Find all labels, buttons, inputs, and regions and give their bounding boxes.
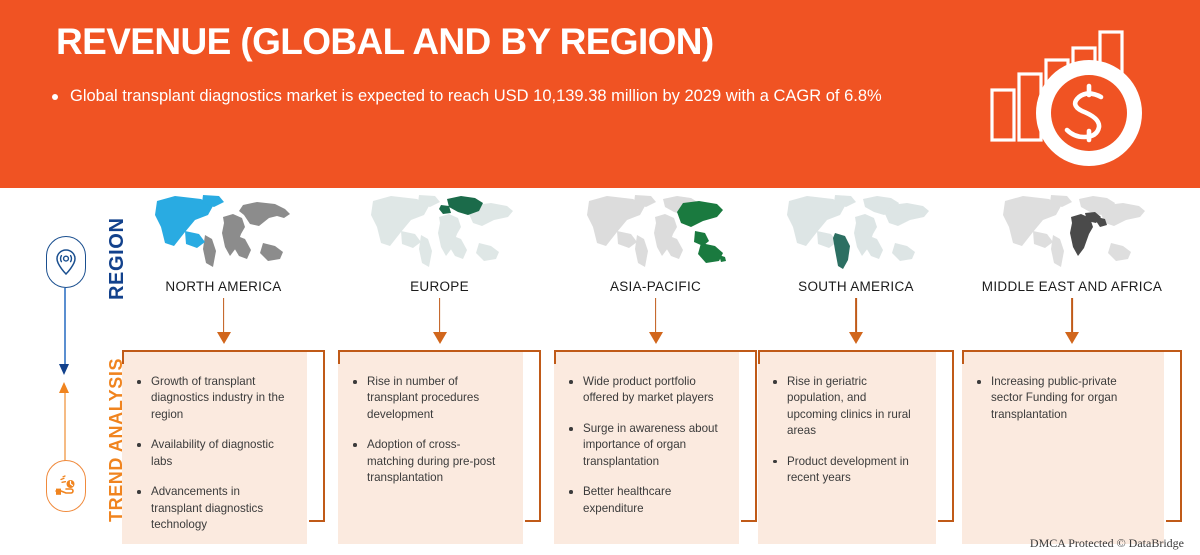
list-item: Advancements in transplant diagnostics t… bbox=[136, 484, 289, 533]
header-banner: REVENUE (GLOBAL AND BY REGION) Global tr… bbox=[0, 0, 1200, 188]
region-columns: NORTH AMERICA Growth of transplant diagn… bbox=[0, 188, 1200, 555]
page-title: REVENUE (GLOBAL AND BY REGION) bbox=[56, 22, 714, 63]
list-item: Availability of diagnostic labs bbox=[136, 437, 289, 470]
trend-card-middle-east-africa: Increasing public-private sector Funding… bbox=[962, 346, 1182, 544]
list-item: Rise in number of transplant procedures … bbox=[352, 374, 505, 423]
card-border-bottom bbox=[938, 520, 954, 522]
card-border-bottom bbox=[309, 520, 325, 522]
connector-arrow-asia-pacific bbox=[554, 294, 757, 346]
card-border-right bbox=[952, 350, 954, 522]
region-column-north-america: NORTH AMERICA Growth of transplant diagn… bbox=[122, 188, 325, 544]
list-item: Increasing public-private sector Funding… bbox=[976, 374, 1146, 423]
card-border-top bbox=[758, 350, 954, 352]
connector-arrow-south-america bbox=[758, 294, 954, 346]
trend-card-south-america: Rise in geriatric population, and upcomi… bbox=[758, 346, 954, 544]
region-label: SOUTH AMERICA bbox=[758, 279, 954, 294]
card-border-top bbox=[338, 350, 541, 352]
list-item: Wide product portfolio offered by market… bbox=[568, 374, 721, 407]
header-highlight-text: Global transplant diagnostics market is … bbox=[70, 84, 882, 110]
card-border-left bbox=[338, 350, 340, 364]
list-item: Surge in awareness about importance of o… bbox=[568, 421, 721, 470]
card-border-left bbox=[758, 350, 760, 364]
world-map-south-america bbox=[758, 188, 954, 274]
list-item: Growth of transplant diagnostics industr… bbox=[136, 374, 289, 423]
region-label: EUROPE bbox=[338, 279, 541, 294]
card-border-right bbox=[539, 350, 541, 522]
world-map-middle-east-africa bbox=[962, 188, 1182, 274]
card-border-left bbox=[962, 350, 964, 364]
world-map-europe bbox=[338, 188, 541, 274]
card-border-left bbox=[122, 350, 124, 364]
connector-arrow-north-america bbox=[122, 294, 325, 346]
dollar-coin-bar-chart-icon bbox=[988, 18, 1148, 170]
trend-card-north-america: Growth of transplant diagnostics industr… bbox=[122, 346, 325, 544]
card-border-bottom bbox=[1166, 520, 1182, 522]
card-border-top bbox=[122, 350, 325, 352]
trend-bullet-list: Growth of transplant diagnostics industr… bbox=[136, 374, 289, 548]
list-item: Product development in recent years bbox=[772, 454, 918, 487]
connector-arrow-middle-east-africa bbox=[962, 294, 1182, 346]
list-item: Adoption of cross-matching during pre-po… bbox=[352, 437, 505, 486]
card-border-bottom bbox=[741, 520, 757, 522]
header-highlight: Global transplant diagnostics market is … bbox=[52, 84, 932, 110]
trend-bullet-list: Rise in number of transplant procedures … bbox=[352, 374, 505, 501]
footer-copyright: DMCA Protected © DataBridge bbox=[1030, 536, 1184, 551]
trend-bullet-list: Wide product portfolio offered by market… bbox=[568, 374, 721, 531]
world-map-asia-pacific bbox=[554, 188, 757, 274]
region-column-middle-east-africa: MIDDLE EAST AND AFRICA Increasing public… bbox=[962, 188, 1182, 544]
trend-bullet-list: Increasing public-private sector Funding… bbox=[976, 374, 1146, 437]
region-column-europe: EUROPE Rise in number of transplant proc… bbox=[338, 188, 541, 544]
trend-card-asia-pacific: Wide product portfolio offered by market… bbox=[554, 346, 757, 544]
region-column-south-america: SOUTH AMERICA Rise in geriatric populati… bbox=[758, 188, 954, 544]
trend-bullet-list: Rise in geriatric population, and upcomi… bbox=[772, 374, 918, 501]
world-map-north-america bbox=[122, 188, 325, 274]
card-border-bottom bbox=[525, 520, 541, 522]
card-border-top bbox=[554, 350, 757, 352]
region-label: MIDDLE EAST AND AFRICA bbox=[962, 279, 1182, 294]
trend-card-europe: Rise in number of transplant procedures … bbox=[338, 346, 541, 544]
card-border-left bbox=[554, 350, 556, 364]
card-border-top bbox=[962, 350, 1182, 352]
list-item: Rise in geriatric population, and upcomi… bbox=[772, 374, 918, 440]
infographic-page: REVENUE (GLOBAL AND BY REGION) Global tr… bbox=[0, 0, 1200, 555]
region-label: NORTH AMERICA bbox=[122, 279, 325, 294]
region-label: ASIA-PACIFIC bbox=[554, 279, 757, 294]
list-item: Better healthcare expenditure bbox=[568, 484, 721, 517]
card-border-right bbox=[1180, 350, 1182, 522]
card-border-right bbox=[755, 350, 757, 522]
region-column-asia-pacific: ASIA-PACIFIC Wide product portfolio offe… bbox=[554, 188, 757, 544]
bullet-dot-icon bbox=[52, 94, 58, 100]
connector-arrow-europe bbox=[338, 294, 541, 346]
card-border-right bbox=[323, 350, 325, 522]
